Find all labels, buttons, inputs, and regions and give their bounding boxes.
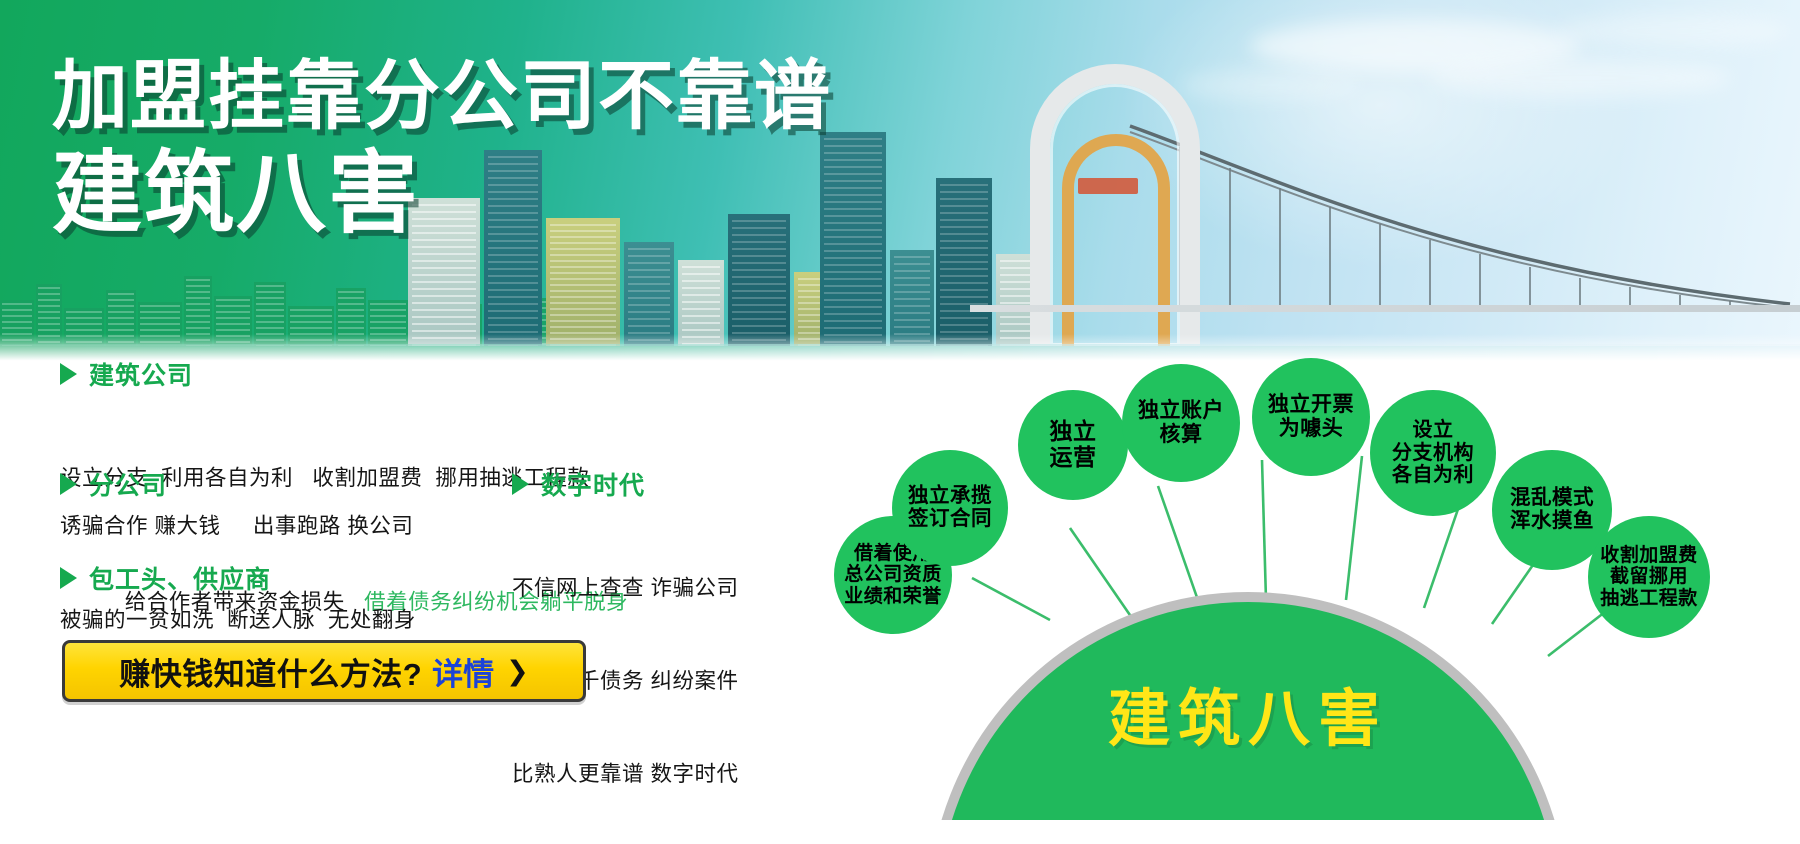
section-header: 分公司: [60, 466, 413, 502]
section-title: 建筑公司: [89, 356, 193, 392]
bubble-line: 为噱头: [1264, 417, 1358, 441]
section-body: 诱骗合作 赚大钱 出事跑路 换公司: [60, 511, 413, 542]
hero-banner: 加盟挂靠分公司不靠谱 建筑八害: [0, 0, 1800, 368]
liede-bridge: [970, 46, 1800, 346]
section-header: 建筑公司: [60, 356, 628, 392]
bubble-franchise-fee[interactable]: 收割加盟费 截留挪用 抽逃工程款: [1588, 516, 1710, 638]
bubble-line: 独立开票: [1264, 393, 1358, 417]
bubble-line: 截留挪用: [1596, 566, 1702, 587]
headline-line-2: 建筑八害: [52, 146, 832, 243]
triangle-bullet-icon: [60, 567, 77, 589]
dome-bottom-mask: [900, 820, 1800, 844]
section-title: 包工头、供应商: [89, 560, 271, 596]
section-title: 数字时代: [541, 466, 645, 502]
bubble-line: 各自为利: [1388, 464, 1478, 486]
cloud-shape: [1560, 14, 1790, 48]
bubble-line: 抽逃工程款: [1596, 588, 1702, 609]
bubble-line: 核算: [1134, 423, 1228, 447]
headline-line-1: 加盟挂靠分公司不靠谱: [52, 56, 832, 138]
infographic-banner: 加盟挂靠分公司不靠谱 建筑八害 建筑公司 设立分支 利用各自为利 收割加盟费 挪…: [0, 0, 1800, 844]
bubble-setup-branch[interactable]: 设立 分支机构 各自为利: [1370, 390, 1496, 516]
bubble-independent-account[interactable]: 独立账户 核算: [1122, 364, 1240, 482]
bubble-independent-operation[interactable]: 独立 运营: [1018, 390, 1128, 500]
section-header: 包工头、供应商: [60, 560, 416, 596]
cta-button[interactable]: 赚快钱知道什么方法? 详情 ❯: [62, 640, 586, 702]
section-body: 被骗的一贫如洗 断送人脉 无处翻身: [60, 605, 416, 636]
bubble-line: 签订合同: [904, 508, 996, 531]
chevron-right-icon: ❯: [506, 656, 529, 687]
section-body-line: 比熟人更靠谱 数字时代: [512, 759, 738, 790]
bubble-line: 收割加盟费: [1596, 545, 1702, 566]
triangle-bullet-icon: [512, 473, 529, 495]
bubble-line: 运营: [1046, 445, 1101, 471]
bubble-independent-contract[interactable]: 独立承揽 签订合同: [892, 450, 1008, 566]
bridge-deck: [970, 305, 1800, 312]
bubble-line: 分支机构: [1388, 442, 1478, 464]
bridge-sign: [1078, 178, 1138, 194]
bubble-line: 业绩和荣誉: [840, 586, 946, 607]
bubble-line: 浑水摸鱼: [1506, 510, 1598, 533]
bridge-arch-inner: [1062, 134, 1170, 346]
triangle-bullet-icon: [60, 473, 77, 495]
bubble-line: 设立: [1388, 419, 1478, 441]
triangle-bullet-icon: [60, 363, 77, 385]
section-header: 数字时代: [512, 466, 738, 502]
section-branch-company: 分公司 诱骗合作 赚大钱 出事跑路 换公司: [60, 466, 413, 542]
section-body-line: 不信网上查查 诈骗公司: [512, 573, 738, 604]
dome-center-label: 建筑八害: [928, 668, 1568, 758]
bubble-line: 混乱模式: [1506, 487, 1598, 510]
bubble-line: 独立账户: [1134, 399, 1228, 423]
building: [890, 250, 934, 346]
bridge-cables: [1120, 116, 1800, 326]
bubble-line: 总公司资质: [840, 564, 946, 585]
hero-headline: 加盟挂靠分公司不靠谱 建筑八害: [52, 56, 832, 243]
section-contractor-supplier: 包工头、供应商 被骗的一贫如洗 断送人脉 无处翻身: [60, 560, 416, 636]
cta-link-text[interactable]: 详情: [432, 649, 494, 694]
bubble-independent-invoice[interactable]: 独立开票 为噱头: [1252, 358, 1370, 476]
building: [624, 242, 674, 346]
bubble-line: 独立: [1046, 419, 1101, 445]
left-content: 建筑公司 设立分支 利用各自为利 收割加盟费 挪用抽逃工程款 给合作者带来资金损…: [0, 368, 900, 844]
bubble-line: 独立承揽: [904, 485, 996, 508]
cta-main-text: 赚快钱知道什么方法?: [119, 649, 422, 694]
bubble-diagram: 建筑八害 借着使用 总公司资质 业绩和荣誉 独立承揽 签订合同 独立 运营: [900, 368, 1800, 844]
section-title: 分公司: [89, 466, 167, 502]
